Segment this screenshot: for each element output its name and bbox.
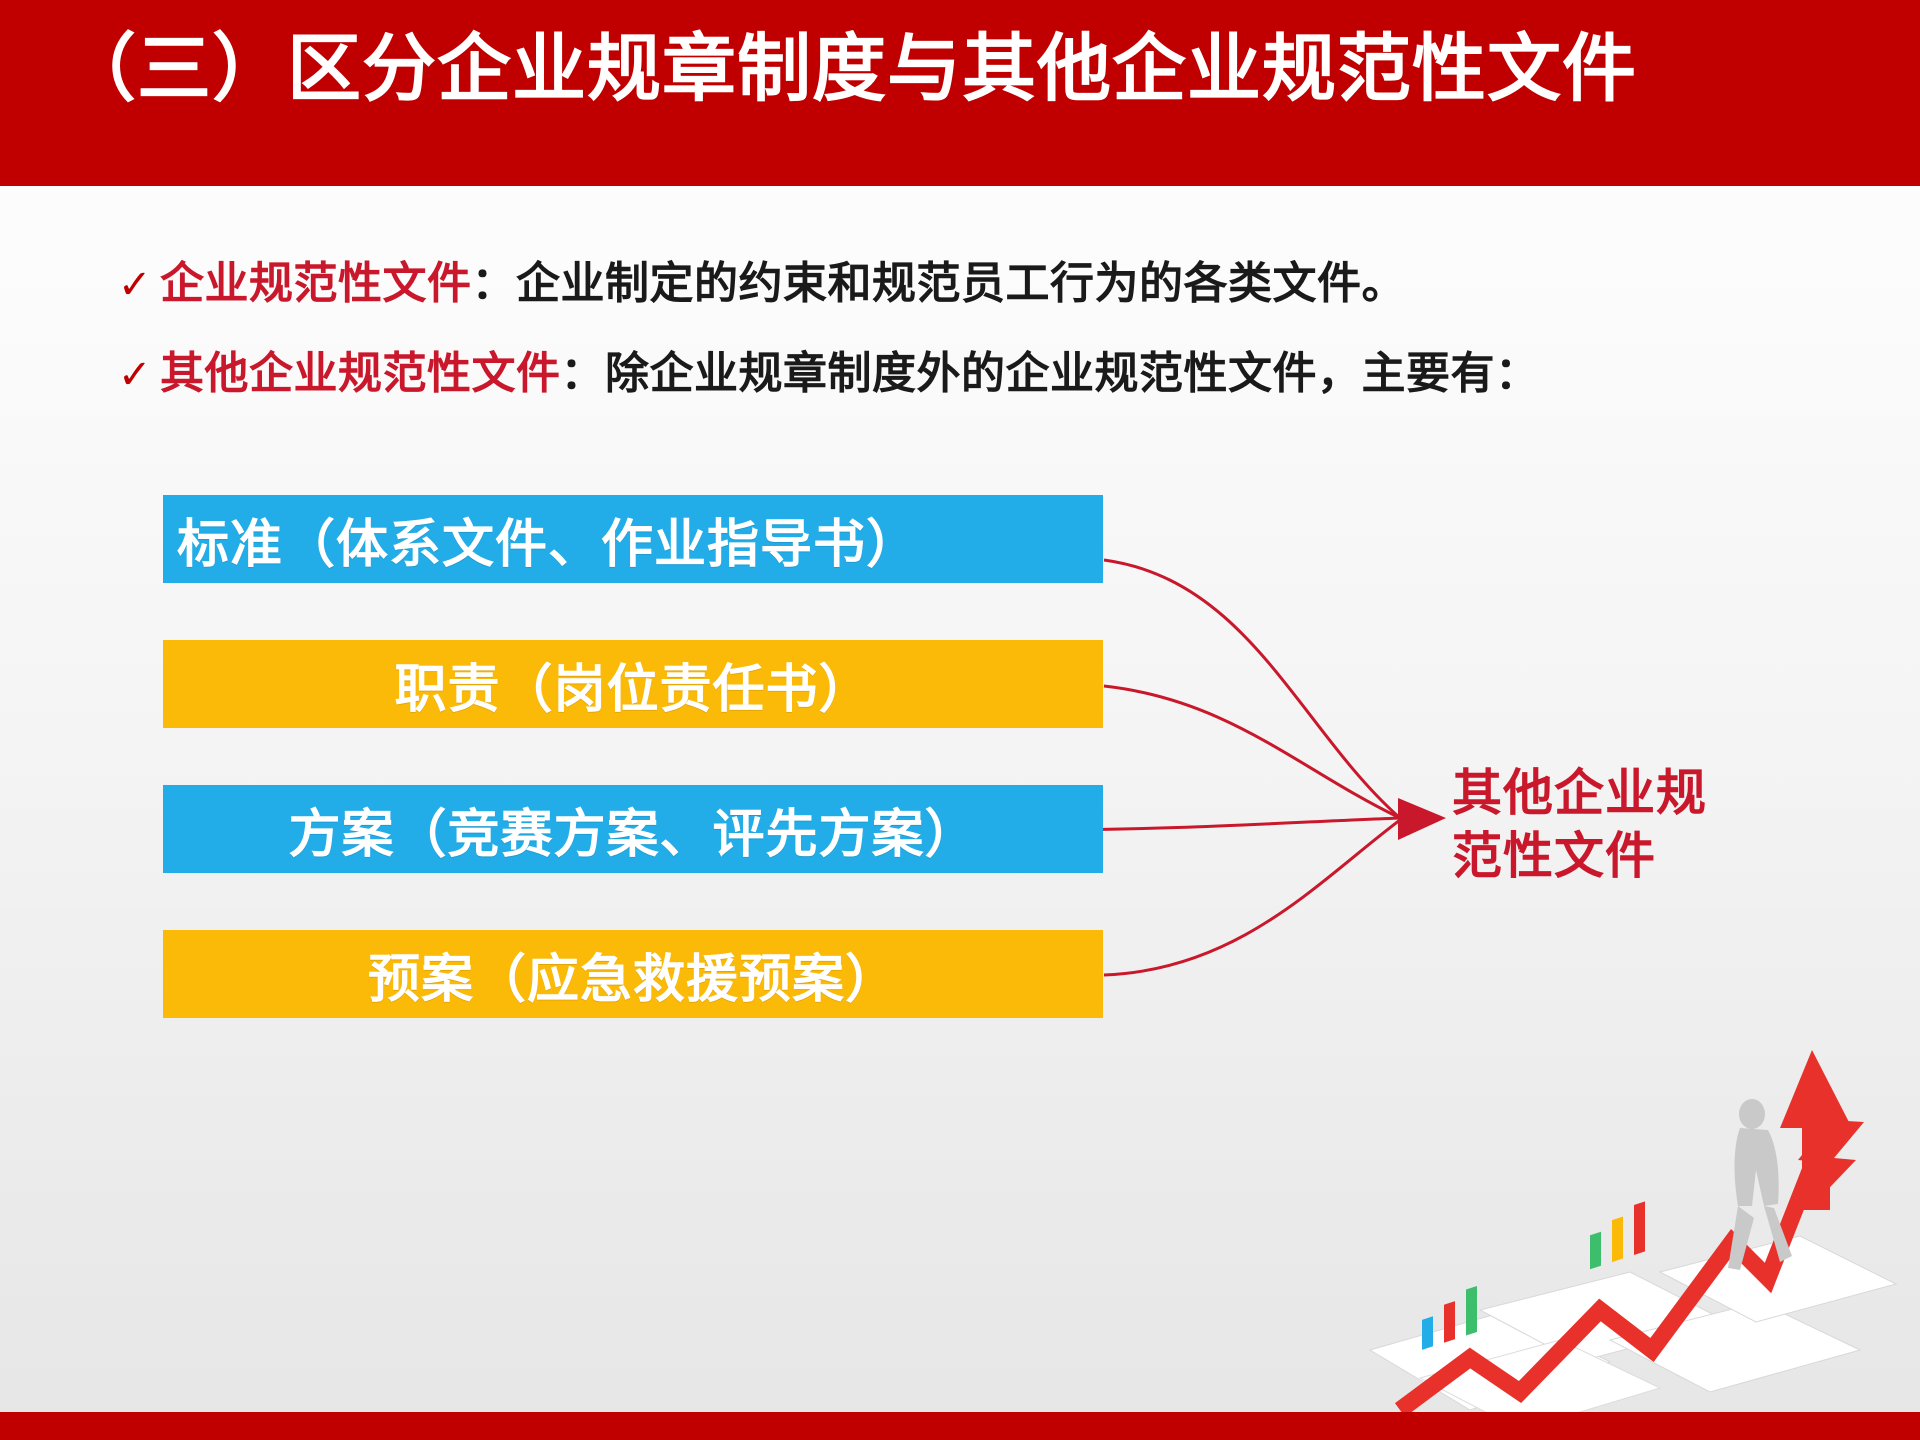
category-box-plan[interactable]: 方案（竞赛方案、评先方案） xyxy=(163,785,1103,873)
category-box-responsibility[interactable]: 职责（岗位责任书） xyxy=(163,640,1103,728)
bullet-2-description: ：除企业规章制度外的企业规范性文件，主要有： xyxy=(561,348,1540,401)
slide-bottom-strip xyxy=(0,1412,1920,1440)
connector-line-1 xyxy=(1104,560,1400,818)
bullet-1-key-term: 企业规范性文件 xyxy=(160,258,472,311)
connector-line-4 xyxy=(1104,820,1400,975)
connector-line-2 xyxy=(1104,686,1400,818)
bullet-item-2: ✓ 其他企业规范性文件 ：除企业规章制度外的企业规范性文件，主要有： xyxy=(118,348,1540,401)
growth-arrow-chart-illustration xyxy=(1360,1010,1920,1440)
category-box-label: 标准（体系文件、作业指导书） xyxy=(177,502,919,577)
check-icon: ✓ xyxy=(118,261,160,309)
slide-title-bar: （三）区分企业规章制度与其他企业规范性文件 xyxy=(0,0,1920,186)
target-label: 其他企业规 范性文件 xyxy=(1452,762,1752,888)
category-box-standard[interactable]: 标准（体系文件、作业指导书） xyxy=(163,495,1103,583)
page-title: （三）区分企业规章制度与其他企业规范性文件 xyxy=(62,28,1637,111)
target-label-line-1: 其他企业规 xyxy=(1452,762,1752,825)
slide-canvas: （三）区分企业规章制度与其他企业规范性文件 ✓ 企业规范性文件 ：企业制定的约束… xyxy=(0,0,1920,1440)
arrow-head-icon xyxy=(1398,798,1446,840)
category-box-label: 方案（竞赛方案、评先方案） xyxy=(288,792,977,867)
category-box-label: 职责（岗位责任书） xyxy=(394,647,871,722)
check-icon: ✓ xyxy=(118,351,160,399)
category-box-contingency[interactable]: 预案（应急救援预案） xyxy=(163,930,1103,1018)
target-label-line-2: 范性文件 xyxy=(1452,825,1752,888)
bullet-item-1: ✓ 企业规范性文件 ：企业制定的约束和规范员工行为的各类文件。 xyxy=(118,258,1406,311)
decor-svg xyxy=(1360,1010,1920,1440)
bullet-2-key-term: 其他企业规范性文件 xyxy=(160,348,561,401)
bullet-1-description: ：企业制定的约束和规范员工行为的各类文件。 xyxy=(472,258,1407,311)
category-box-label: 预案（应急救援预案） xyxy=(368,937,898,1012)
